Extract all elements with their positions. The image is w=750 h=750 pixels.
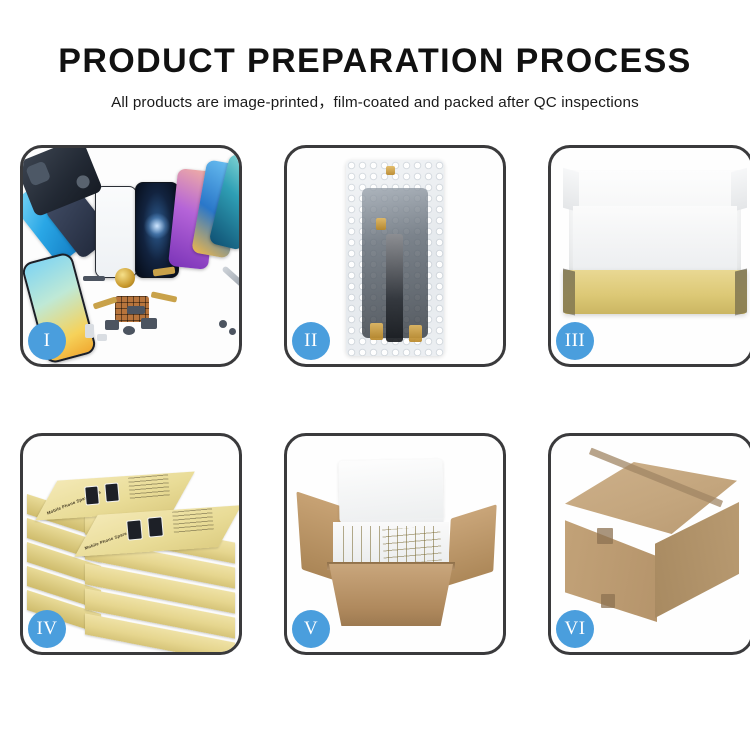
gold-connector-icon [386,166,395,175]
box-lid-text-lines [128,474,170,499]
screw-icon [229,328,236,335]
box-stack: Mobile Phone Spare Parts Mobile Phone Sp… [27,454,239,640]
page-title: PRODUCT PREPARATION PROCESS [0,42,750,81]
step-badge-6: VI [556,610,594,648]
step-badge-5: V [292,610,330,648]
screw-icon [219,320,227,328]
screen-protector-icon [95,186,137,278]
kraft-box-body-icon [563,270,747,314]
step-panel-3: III [548,145,750,367]
step-panel-1: I [20,145,242,367]
step-panel-6: VI [548,433,750,655]
flex-cable-icon [93,296,118,309]
process-steps-grid: I II III [20,145,734,677]
box-lid-phone-print [147,516,164,537]
flex-cable-icon [151,291,178,302]
tweezers-icon [221,265,239,292]
small-component-icon [83,276,105,281]
box-lid-text-lines [172,508,214,533]
foam-lid-icon [338,459,443,523]
speaker-coil-icon [115,268,135,288]
carton-body [329,564,453,626]
carton-flap-tab [601,594,615,608]
step-panel-4: Mobile Phone Spare Parts Mobile Phone Sp… [20,433,242,655]
step-badge-1: I [28,322,66,360]
step-panel-2: II [284,145,506,367]
packed-boxes-icon [382,527,442,564]
foam-sheet-icon [573,206,737,272]
page-header: PRODUCT PREPARATION PROCESS All products… [0,0,750,112]
small-component-icon [85,324,94,338]
small-component-icon [127,306,145,314]
box-lid-phone-print [84,485,100,505]
step-badge-2: II [292,322,330,360]
gold-connector-icon [409,325,422,342]
page-subtitle: All products are image-printed，film-coat… [0,90,750,112]
small-component-icon [97,334,107,341]
box-lid-phone-print [126,519,143,540]
step-panel-5: V [284,433,506,655]
small-component-icon [123,326,135,335]
flex-cable-icon [386,234,403,342]
product-preparation-page: PRODUCT PREPARATION PROCESS All products… [0,0,750,750]
carton-flap-right [447,504,496,585]
step-badge-4: IV [28,610,66,648]
carton-flap-tab [597,528,613,544]
box-lid-phone-print [104,482,120,502]
step-badge-3: III [556,322,594,360]
gold-connector-icon [370,323,383,340]
gold-connector-icon [376,218,386,230]
bubble-wrap-bag-icon [346,160,444,356]
small-component-icon [141,318,157,329]
small-component-icon [105,320,119,330]
